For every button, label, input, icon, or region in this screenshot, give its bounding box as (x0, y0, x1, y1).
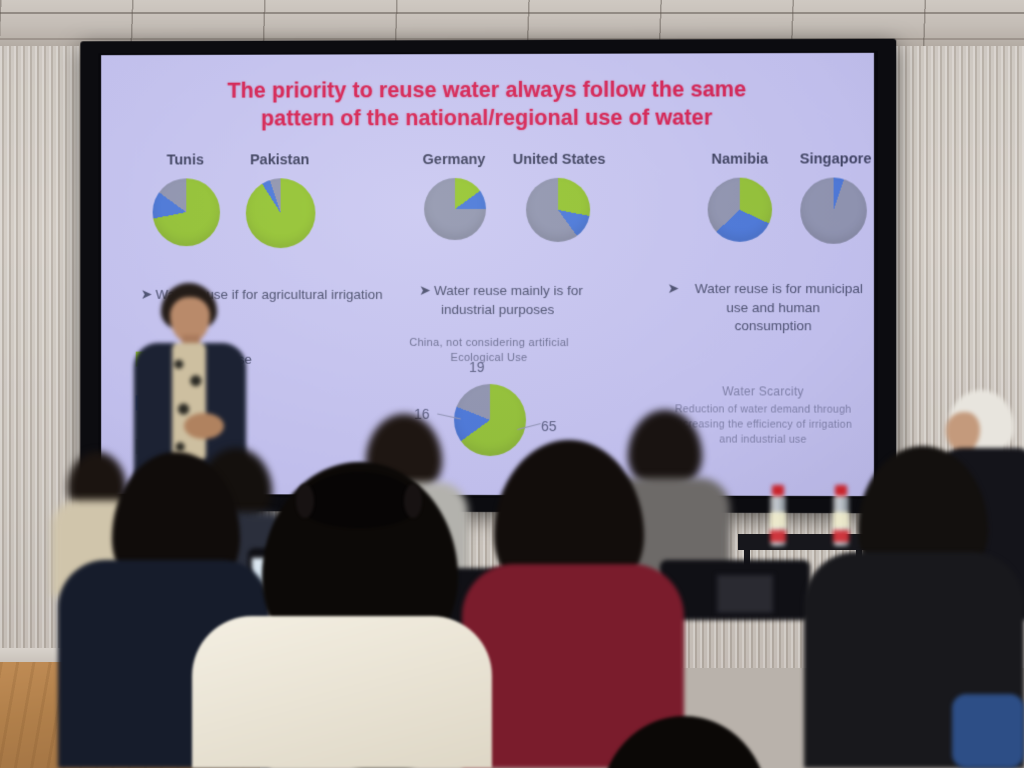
water-scarcity-line-1: Reduction of water demand through (654, 402, 872, 417)
chart-label-pakistan: Pakistan (225, 152, 334, 168)
pie-chart-united-states (526, 178, 590, 242)
screenshot-root: The priority to reuse water always follo… (0, 0, 1024, 768)
bottle-cap-icon (835, 485, 847, 496)
pie-chart-namibia (708, 178, 772, 242)
bottle-cap-icon (772, 485, 784, 496)
bottle-band (833, 530, 849, 542)
chart-label-united-states: United States (494, 152, 624, 168)
china-chart-title-line-1: China, not considering artificial (374, 336, 604, 351)
pie-chart-pakistan (246, 178, 316, 248)
attendee-face (946, 412, 980, 452)
slide-title-line-2: pattern of the national/regional use of … (135, 103, 841, 133)
bullet-arrow-icon: ➤ (667, 280, 678, 299)
china-value-label-65: 65 (541, 418, 557, 434)
pie-chart-china (454, 384, 526, 456)
bullet-industrial-line-2: industrial purposes (441, 300, 639, 319)
slide-title: The priority to reuse water always follo… (135, 75, 841, 133)
bullet-municipal-line-2: use and human (667, 299, 874, 318)
chart-label-singapore: Singapore (775, 151, 874, 167)
water-scarcity-heading: Water Scarcity (654, 384, 872, 399)
hair-bow-loop (404, 484, 422, 518)
pie-chart-germany (424, 178, 486, 240)
laptop (716, 574, 774, 614)
bottle-label (770, 512, 786, 528)
pie-chart-singapore (800, 177, 867, 243)
ceiling-seam (0, 12, 1024, 14)
bottle-band (770, 530, 786, 542)
china-chart-title-line-2: Ecological Use (374, 351, 604, 366)
bullet-municipal: ➤ Water reuse is for municipal use and h… (667, 280, 874, 336)
chart-label-tunis: Tunis (131, 152, 240, 168)
bullet-industrial: ➤ Water reuse mainly is for industrial p… (419, 282, 639, 319)
bottle-label (833, 512, 849, 528)
bullet-municipal-line-3: consumption (667, 317, 874, 336)
laptop-screen (718, 576, 772, 612)
water-bottle (770, 494, 786, 546)
audience-sleeve (952, 694, 1024, 768)
bullet-industrial-line-1: Water reuse mainly is for (434, 283, 583, 298)
presenter-hands (184, 413, 224, 439)
bullet-arrow-icon: ➤ (419, 283, 430, 298)
water-bottle (833, 494, 849, 546)
china-value-label-19: 19 (469, 359, 485, 375)
slide-title-line-1: The priority to reuse water always follo… (135, 75, 841, 105)
pie-chart-tunis (153, 178, 220, 246)
hair-bow-loop (296, 484, 314, 518)
chart-label-germany: Germany (399, 152, 509, 168)
china-chart-title: China, not considering artificial Ecolog… (374, 336, 604, 366)
front-attendee-jacket (192, 616, 492, 768)
bullet-municipal-line-1: Water reuse is for municipal (667, 280, 874, 299)
presenter-blouse (172, 343, 206, 461)
